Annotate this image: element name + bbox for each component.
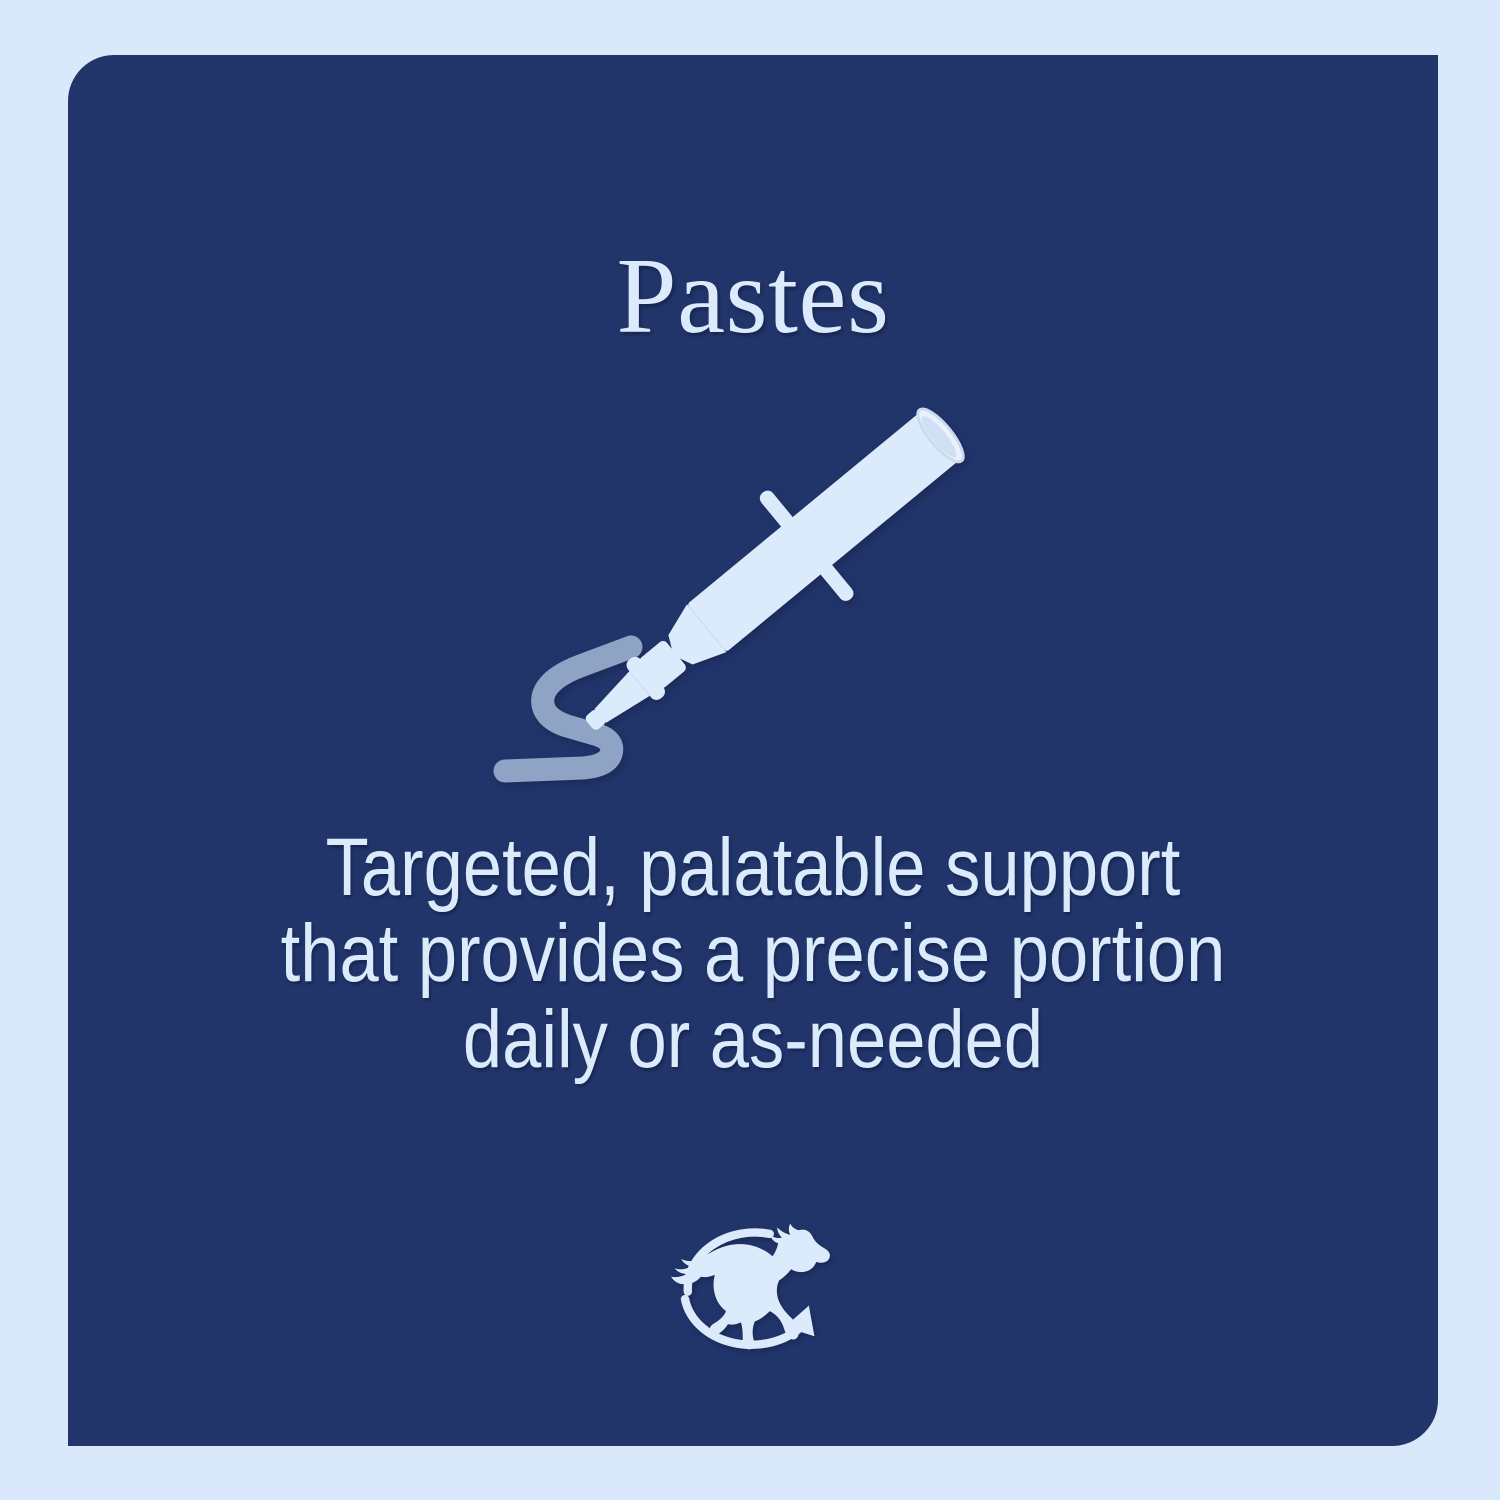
paste-syringe-illustration [68,355,1438,825]
pastes-feature-card: Pastes [68,55,1438,1446]
page-title: Pastes [68,240,1438,353]
paste-syringe-icon [443,375,1063,805]
description-line-1: Targeted, palatable support [216,825,1291,911]
syringe-body-group [546,375,993,778]
brand-logo [68,1219,1438,1354]
description-line-2: that provides a precise portion [216,911,1291,997]
description-line-3: daily or as-needed [216,997,1291,1083]
feature-description: Targeted, palatable support that provide… [216,825,1291,1083]
page-root: Pastes [0,0,1500,1500]
syringe-barrel [687,410,962,652]
galloping-horse-circular-arrow-logo [658,1219,848,1354]
